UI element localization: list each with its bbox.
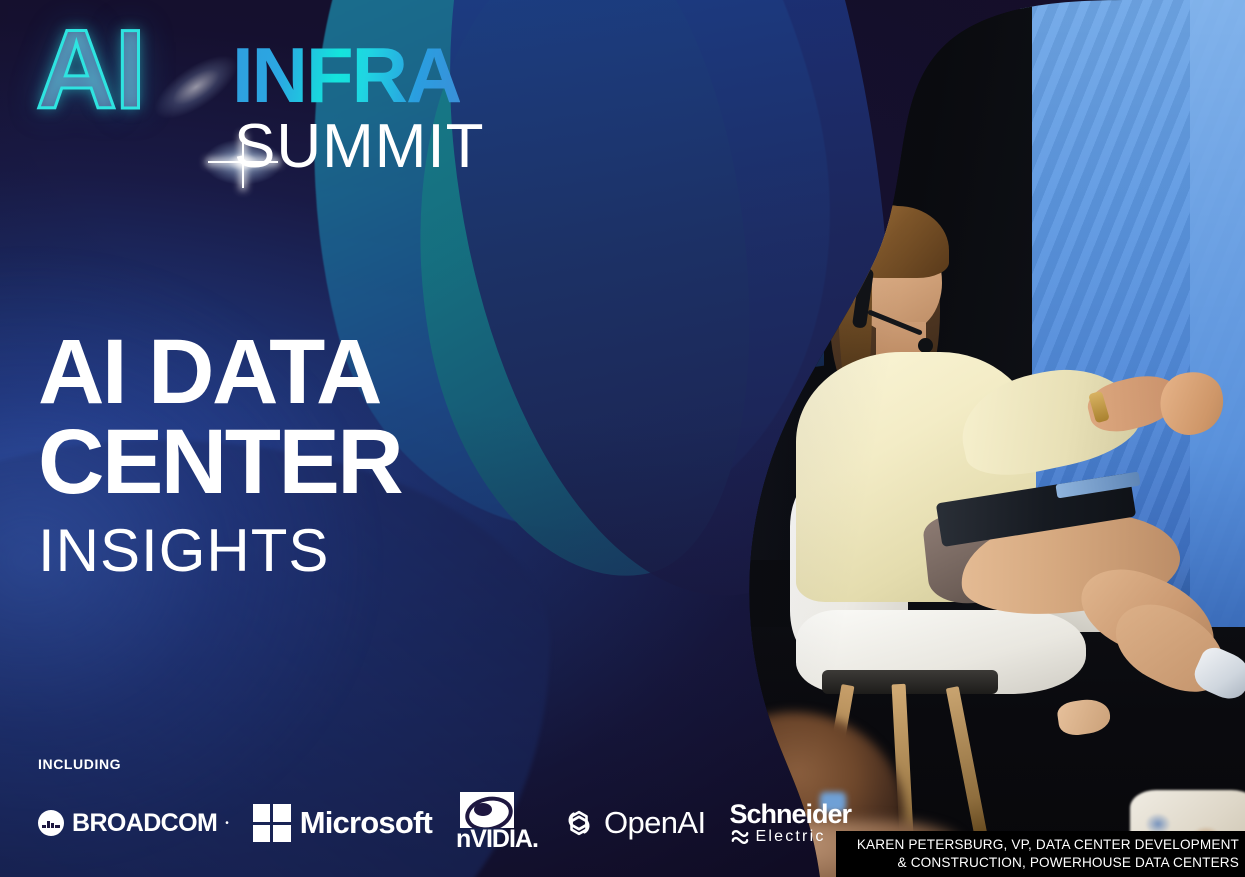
- headline-line-2: CENTER: [38, 420, 598, 504]
- ai-infra-summit-logo: AI INFRA SUMMIT: [36, 22, 536, 182]
- poster-canvas: AI INFRA SUMMIT AI DATA CENTER INSIGHTS …: [0, 0, 1245, 877]
- logo-ai-mark: AI: [36, 18, 144, 122]
- nvidia-wordmark: nVIDIA.: [456, 825, 538, 854]
- headset-mic-icon: [918, 338, 933, 353]
- sponsor-logo-openai[interactable]: OpenAI: [562, 805, 706, 841]
- headline-line-1: AI DATA: [38, 330, 598, 414]
- broadcom-wordmark: BROADCOM: [72, 809, 217, 838]
- schneider-wordmark: Schneider: [729, 801, 851, 828]
- sponsors-label: INCLUDING: [38, 756, 738, 772]
- openai-wordmark: OpenAI: [604, 805, 706, 841]
- speaker-caption-text: KAREN PETERSBURG, VP, DATA CENTER DEVELO…: [857, 836, 1239, 871]
- sponsor-logo-broadcom[interactable]: BROADCOM •: [38, 809, 229, 838]
- speaker-caption-bar: KAREN PETERSBURG, VP, DATA CENTER DEVELO…: [836, 831, 1245, 877]
- sponsor-logo-schneider-electric[interactable]: Schneider Electric: [729, 801, 851, 845]
- schneider-lifeisonmark-icon: [729, 829, 751, 845]
- microsoft-wordmark: Microsoft: [300, 805, 432, 841]
- openai-knot-icon: [562, 806, 596, 840]
- page-title: AI DATA CENTER INSIGHTS: [38, 330, 598, 582]
- logo-top-row: AI INFRA: [36, 22, 536, 118]
- headline-subtitle: INSIGHTS: [38, 520, 598, 582]
- broadcom-wave-icon: [38, 810, 64, 836]
- sponsor-logo-microsoft[interactable]: Microsoft: [253, 804, 432, 842]
- sponsors-section: INCLUDING BROADCOM • Microsoft nVIDIA.: [38, 756, 738, 852]
- schneider-electric-text: Electric: [755, 829, 825, 845]
- logo-summit-text: SUMMIT: [234, 116, 485, 178]
- broadcom-trademark: •: [225, 818, 229, 829]
- sponsor-logo-row: BROADCOM • Microsoft nVIDIA.: [38, 794, 738, 852]
- microsoft-squares-icon: [253, 804, 291, 842]
- nvidia-eye-icon: [460, 792, 514, 828]
- sponsor-logo-nvidia[interactable]: nVIDIA.: [456, 792, 538, 854]
- schneider-electric-row: Electric: [729, 829, 825, 845]
- logo-infra-text: INFRA: [232, 36, 460, 114]
